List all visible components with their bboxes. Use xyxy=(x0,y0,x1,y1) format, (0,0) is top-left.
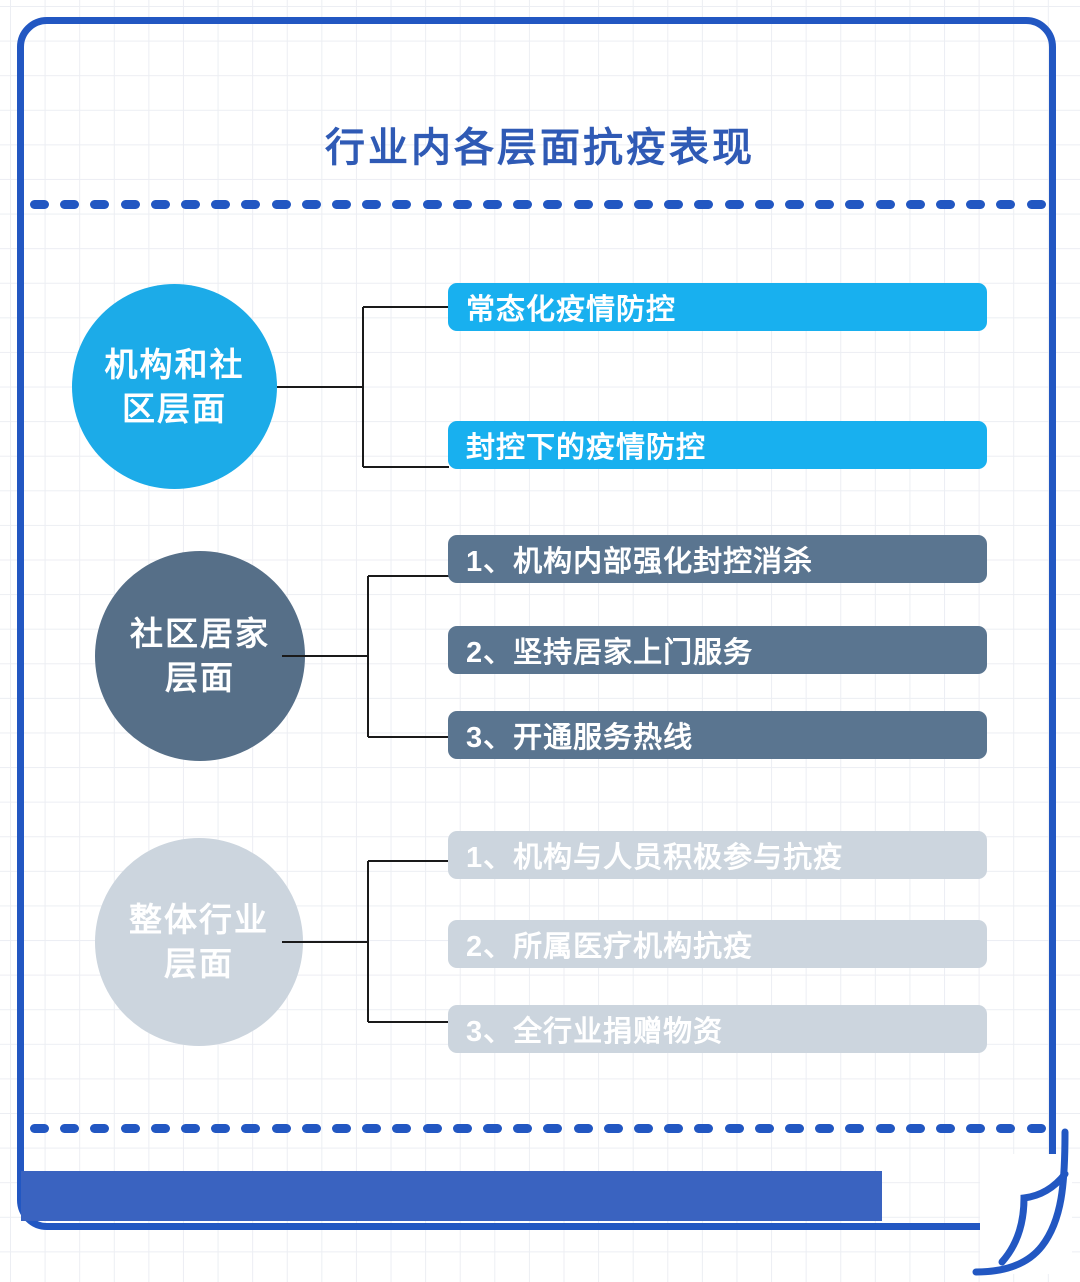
group-circle-community-home[interactable]: 社区居家层面 xyxy=(95,551,305,761)
dash-segment xyxy=(211,200,230,209)
dash-segment xyxy=(966,200,985,209)
dash-segment xyxy=(241,1124,260,1133)
dash-segment xyxy=(241,200,260,209)
dash-segment xyxy=(272,200,291,209)
dashed-divider-bottom xyxy=(30,1124,1046,1133)
dash-segment xyxy=(332,1124,351,1133)
dash-segment xyxy=(725,200,744,209)
dash-segment xyxy=(604,1124,623,1133)
dash-segment xyxy=(151,200,170,209)
dash-segment xyxy=(996,1124,1015,1133)
dash-segment xyxy=(483,1124,502,1133)
dash-segment xyxy=(302,200,321,209)
dash-segment xyxy=(574,200,593,209)
group-item-bar[interactable]: 2、坚持居家上门服务 xyxy=(448,626,987,674)
dash-segment xyxy=(272,1124,291,1133)
dash-segment xyxy=(423,1124,442,1133)
dash-segment xyxy=(845,200,864,209)
connector-bracket-2 xyxy=(282,532,457,762)
dash-segment xyxy=(362,1124,381,1133)
dash-segment xyxy=(755,1124,774,1133)
dash-segment xyxy=(664,200,683,209)
dash-segment xyxy=(90,200,109,209)
dash-segment xyxy=(151,1124,170,1133)
dash-segment xyxy=(392,200,411,209)
group-item-bar[interactable]: 1、机构内部强化封控消杀 xyxy=(448,535,987,583)
dash-segment xyxy=(30,1124,49,1133)
dashed-divider-top xyxy=(30,200,1046,209)
dash-segment xyxy=(876,200,895,209)
group-item-bar[interactable]: 2、所属医疗机构抗疫 xyxy=(448,920,987,968)
dash-segment xyxy=(423,200,442,209)
group-circle-institution-community[interactable]: 机构和社区层面 xyxy=(72,284,277,489)
dash-segment xyxy=(543,200,562,209)
dash-segment xyxy=(694,200,713,209)
dash-segment xyxy=(876,1124,895,1133)
group-item-bar[interactable]: 常态化疫情防控 xyxy=(448,283,987,331)
dash-segment xyxy=(906,200,925,209)
dash-segment xyxy=(483,200,502,209)
dash-segment xyxy=(845,1124,864,1133)
dash-segment xyxy=(211,1124,230,1133)
group-item-bar[interactable]: 1、机构与人员积极参与抗疫 xyxy=(448,831,987,879)
dash-segment xyxy=(664,1124,683,1133)
dash-segment xyxy=(694,1124,713,1133)
dash-segment xyxy=(634,200,653,209)
dash-segment xyxy=(936,200,955,209)
dash-segment xyxy=(513,200,532,209)
dash-segment xyxy=(755,200,774,209)
dash-segment xyxy=(785,1124,804,1133)
page-curl-icon xyxy=(958,1122,1078,1282)
connector-bracket-1 xyxy=(277,280,452,495)
dash-segment xyxy=(966,1124,985,1133)
dash-segment xyxy=(60,1124,79,1133)
dash-segment xyxy=(453,200,472,209)
dash-segment xyxy=(543,1124,562,1133)
dash-segment xyxy=(513,1124,532,1133)
dash-segment xyxy=(30,200,49,209)
dash-segment xyxy=(1027,1124,1046,1133)
dash-segment xyxy=(60,200,79,209)
dash-segment xyxy=(906,1124,925,1133)
dash-segment xyxy=(1027,200,1046,209)
dash-segment xyxy=(996,200,1015,209)
page-title: 行业内各层面抗疫表现 xyxy=(0,115,1080,173)
dash-segment xyxy=(574,1124,593,1133)
dash-segment xyxy=(362,200,381,209)
dash-segment xyxy=(181,200,200,209)
dash-segment xyxy=(604,200,623,209)
group-circle-whole-industry[interactable]: 整体行业层面 xyxy=(95,838,303,1046)
dash-segment xyxy=(121,1124,140,1133)
dash-segment xyxy=(392,1124,411,1133)
group-item-bar[interactable]: 3、开通服务热线 xyxy=(448,711,987,759)
dash-segment xyxy=(453,1124,472,1133)
group-item-bar[interactable]: 3、全行业捐赠物资 xyxy=(448,1005,987,1053)
dash-segment xyxy=(936,1124,955,1133)
group-item-bar[interactable]: 封控下的疫情防控 xyxy=(448,421,987,469)
dash-segment xyxy=(181,1124,200,1133)
dash-segment xyxy=(90,1124,109,1133)
connector-bracket-3 xyxy=(282,828,457,1058)
footer-accent-bar xyxy=(21,1171,882,1221)
dash-segment xyxy=(785,200,804,209)
dash-segment xyxy=(815,1124,834,1133)
dash-segment xyxy=(302,1124,321,1133)
dash-segment xyxy=(634,1124,653,1133)
dash-segment xyxy=(121,200,140,209)
dash-segment xyxy=(815,200,834,209)
dash-segment xyxy=(332,200,351,209)
dash-segment xyxy=(725,1124,744,1133)
